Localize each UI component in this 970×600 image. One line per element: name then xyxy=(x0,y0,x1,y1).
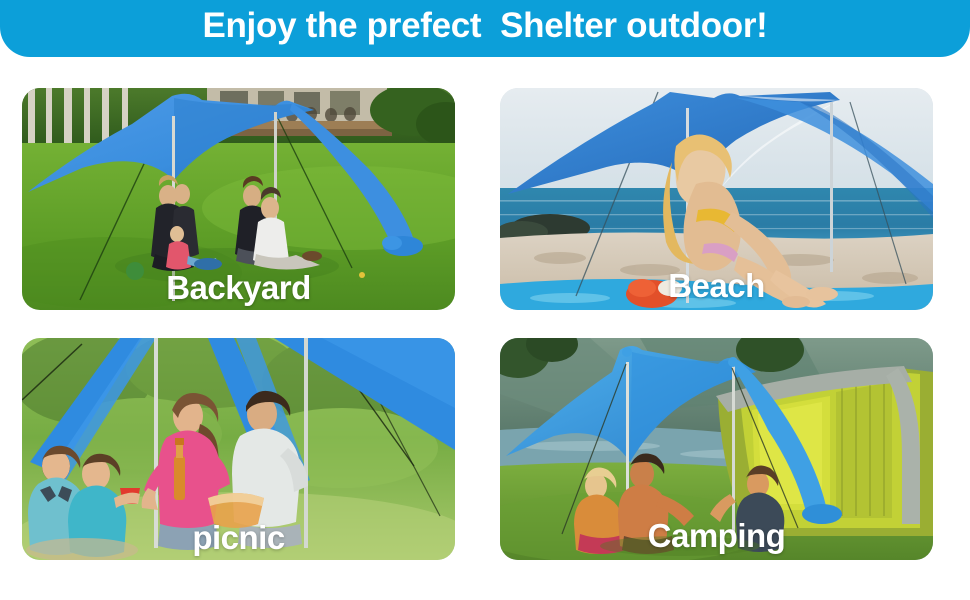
picnic-illustration xyxy=(22,338,455,560)
panel-picnic[interactable]: picnic xyxy=(22,338,455,560)
scene-panel-grid: Backyard xyxy=(22,88,925,560)
page-title: Enjoy the prefect Shelter outdoor! xyxy=(202,8,767,43)
panel-beach[interactable]: Beach xyxy=(500,88,933,310)
beach-illustration xyxy=(500,88,933,310)
panel-camping[interactable]: Camping xyxy=(500,338,933,560)
header-banner: Enjoy the prefect Shelter outdoor! xyxy=(0,0,970,57)
panel-backyard[interactable]: Backyard xyxy=(22,88,455,310)
camping-illustration xyxy=(500,338,933,560)
backyard-illustration xyxy=(22,88,455,310)
